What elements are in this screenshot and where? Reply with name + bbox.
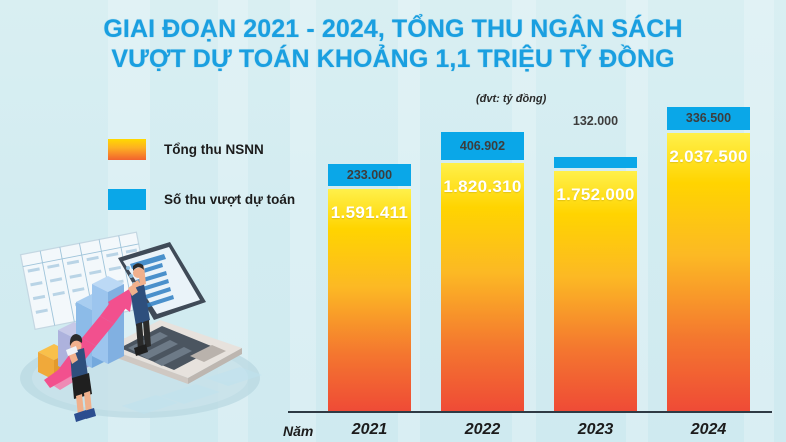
bar-segment-total-2021: 1.591.411 (328, 189, 411, 411)
bar-segment-excess-2021: 233.000 (328, 164, 411, 186)
bar-segment-excess-2022: 406.902 (441, 132, 524, 160)
infographic-root: GIAI ĐOẠN 2021 - 2024, TỔNG THU NGÂN SÁC… (0, 0, 786, 442)
x-tick-2021: 2021 (328, 421, 411, 439)
bar-value-excess-2023: 132.000 (554, 114, 637, 128)
bar-stack-2023: 1.752.000 (554, 157, 637, 411)
x-tick-2022: 2022 (441, 421, 524, 439)
bar-segment-total-2022: 1.820.310 (441, 163, 524, 411)
bar-segment-total-2023: 1.752.000 (554, 171, 637, 411)
bar-value-total-2024: 2.037.500 (667, 147, 750, 167)
bar-value-total-2023: 1.752.000 (554, 185, 637, 205)
x-axis-title: Năm (283, 423, 313, 439)
bar-stack-2022: 406.902 1.820.310 (441, 132, 524, 411)
chart-baseline (288, 411, 772, 413)
bar-stack-2024: 336.500 2.037.500 (667, 107, 750, 411)
x-tick-2024: 2024 (667, 421, 750, 439)
bar-value-total-2021: 1.591.411 (328, 203, 411, 223)
bar-value-total-2022: 1.820.310 (441, 177, 524, 197)
x-tick-2023: 2023 (554, 421, 637, 439)
bar-segment-total-2024: 2.037.500 (667, 133, 750, 411)
bar-segment-excess-2023 (554, 157, 637, 168)
bar-segment-excess-2024: 336.500 (667, 107, 750, 130)
bar-chart: Năm 233.000 1.591.411 2021 406.902 1.820… (0, 0, 786, 442)
bar-stack-2021: 233.000 1.591.411 (328, 164, 411, 411)
